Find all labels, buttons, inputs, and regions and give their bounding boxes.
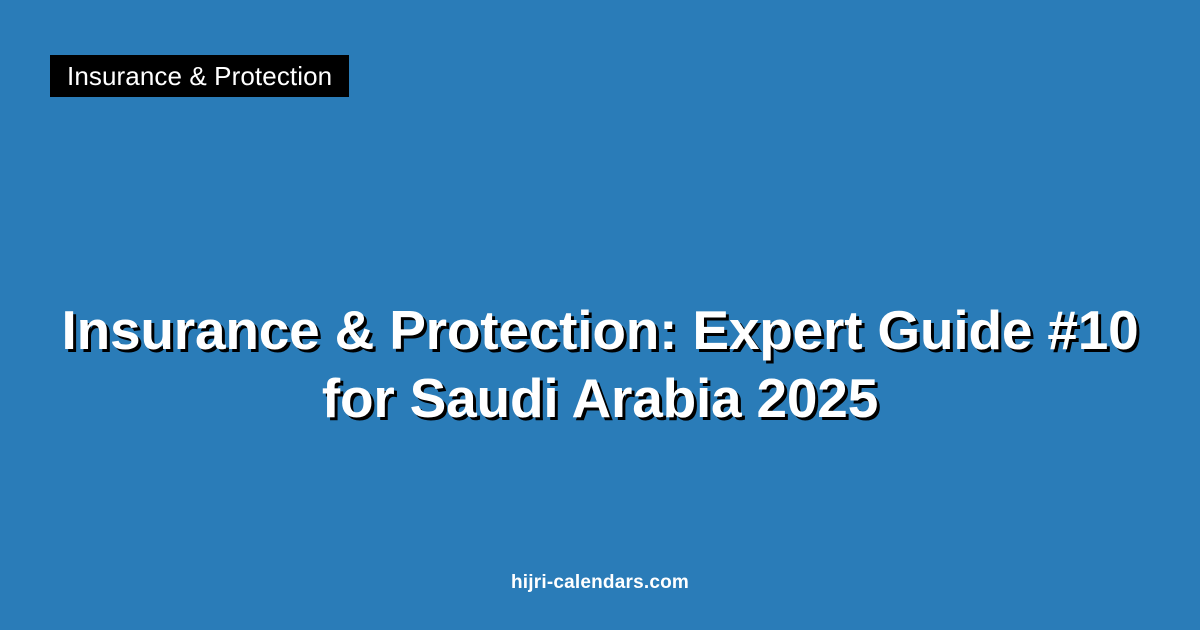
site-domain-label: hijri-calendars.com (511, 570, 689, 596)
footer-block: hijri-calendars.com (0, 570, 1200, 596)
social-share-card: Insurance & Protection Insurance & Prote… (0, 0, 1200, 630)
page-title: Insurance & Protection: Expert Guide #10… (40, 296, 1160, 432)
category-badge: Insurance & Protection (50, 55, 349, 97)
title-block: Insurance & Protection: Expert Guide #10… (0, 296, 1200, 432)
